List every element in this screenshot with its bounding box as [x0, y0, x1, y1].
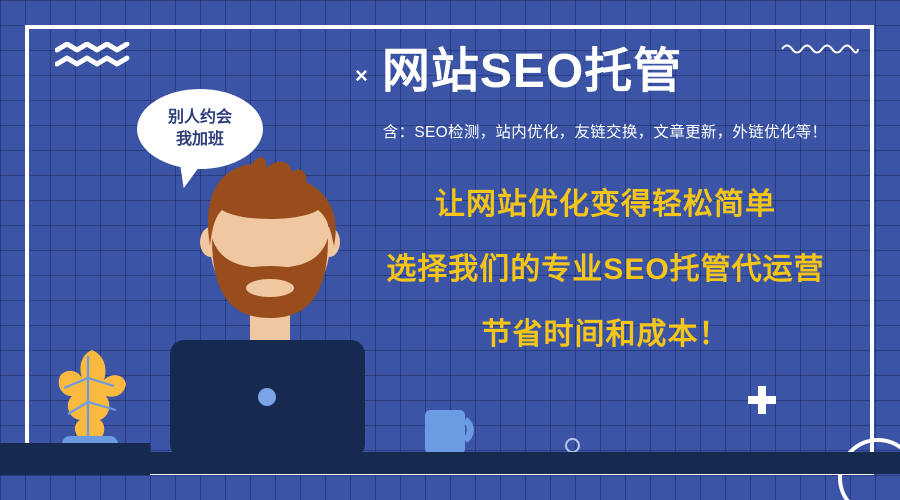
page-title: × 网站SEO托管: [355, 44, 682, 99]
title-text: 网站SEO托管: [382, 44, 682, 99]
slogan-line-2: 选择我们的专业SEO托管代运营: [338, 255, 873, 285]
double-zigzag-wave-icon: [55, 42, 131, 68]
seo-hosting-banner: 别人约会 我加班 × 网站SEO托管 含：SEO检测，站内优化，友链交换，文章更…: [0, 0, 900, 500]
speech-bubble: 别人约会 我加班: [137, 89, 263, 169]
speech-bubble-line-2: 我加班: [176, 129, 224, 151]
desk-surface: [0, 452, 900, 474]
slogan-line-1: 让网站优化变得轻松简单: [338, 190, 873, 220]
title-bullet-mark: ×: [355, 65, 368, 87]
speech-bubble-line-1: 别人约会: [168, 107, 232, 129]
small-circle-outline: [565, 438, 580, 453]
plus-icon: [748, 386, 776, 414]
person-head: [200, 157, 340, 318]
coffee-mug-icon: [425, 410, 470, 454]
slogan-list: 让网站优化变得轻松简单 选择我们的专业SEO托管代运营 节省时间和成本！: [338, 190, 873, 350]
slogan-line-3: 节省时间和成本！: [338, 320, 873, 350]
subtitle-text: 含：SEO检测，站内优化，友链交换，文章更新，外链优化等！: [340, 120, 870, 142]
laptop-icon: [170, 340, 365, 458]
thin-wavy-line-icon: [780, 40, 860, 56]
